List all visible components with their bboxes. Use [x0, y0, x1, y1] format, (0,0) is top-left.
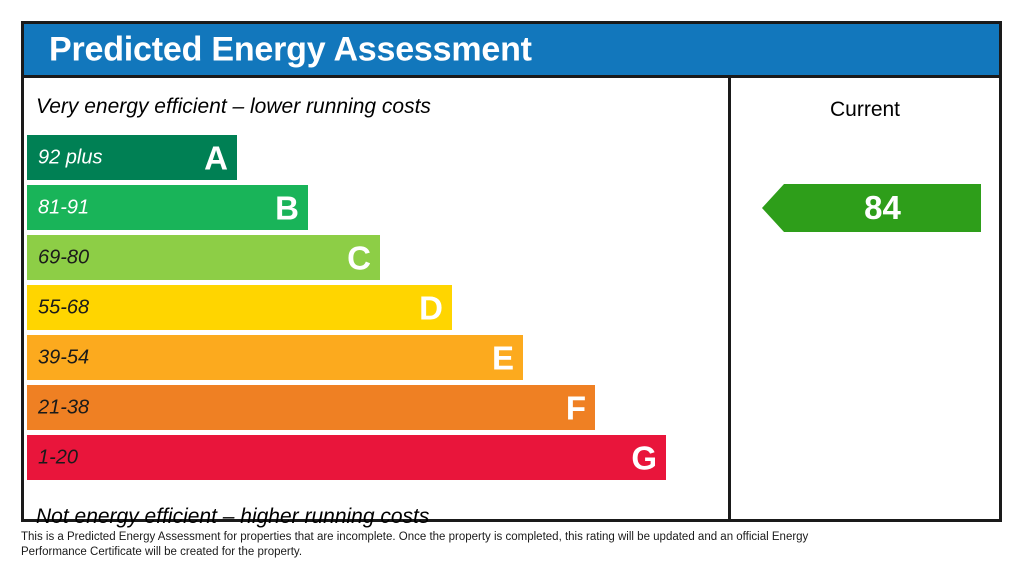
- energy-band-b: 81-91B: [27, 185, 308, 230]
- current-column-heading: Current: [731, 98, 999, 122]
- band-letter-label: D: [419, 291, 443, 324]
- page-title: Predicted Energy Assessment: [49, 30, 532, 69]
- band-range-label: 55-68: [38, 296, 89, 319]
- band-range-label: 1-20: [38, 446, 78, 469]
- title-bar: Predicted Energy Assessment: [24, 24, 999, 78]
- current-rating-arrow: 84: [762, 184, 981, 232]
- band-letter-label: E: [492, 341, 514, 374]
- band-letter-label: F: [566, 391, 586, 424]
- band-range-label: 39-54: [38, 346, 89, 369]
- epc-frame: Predicted Energy Assessment Very energy …: [21, 21, 1002, 522]
- band-letter-label: A: [204, 141, 228, 174]
- caption-efficient: Very energy efficient – lower running co…: [36, 95, 431, 119]
- caption-inefficient: Not energy efficient – higher running co…: [36, 505, 429, 529]
- energy-band-e: 39-54E: [27, 335, 523, 380]
- band-letter-label: C: [347, 241, 371, 274]
- band-letter-label: B: [275, 191, 299, 224]
- band-range-label: 69-80: [38, 246, 89, 269]
- band-range-label: 92 plus: [38, 146, 103, 169]
- current-rating-pane: Current 84: [731, 78, 999, 519]
- current-rating-value: 84: [784, 184, 981, 232]
- band-range-label: 21-38: [38, 396, 89, 419]
- certificate-body: Very energy efficient – lower running co…: [24, 78, 999, 519]
- energy-band-a: 92 plusA: [27, 135, 237, 180]
- energy-band-list: 92 plusA81-91B69-80C55-68D39-54E21-38F1-…: [27, 135, 731, 485]
- epc-certificate: Predicted Energy Assessment Very energy …: [0, 0, 1024, 576]
- footer-disclaimer: This is a Predicted Energy Assessment fo…: [21, 530, 821, 560]
- energy-band-c: 69-80C: [27, 235, 380, 280]
- energy-band-f: 21-38F: [27, 385, 595, 430]
- band-range-label: 81-91: [38, 196, 89, 219]
- energy-band-g: 1-20G: [27, 435, 666, 480]
- energy-bands-pane: Very energy efficient – lower running co…: [24, 78, 731, 519]
- energy-band-d: 55-68D: [27, 285, 452, 330]
- band-letter-label: G: [631, 441, 657, 474]
